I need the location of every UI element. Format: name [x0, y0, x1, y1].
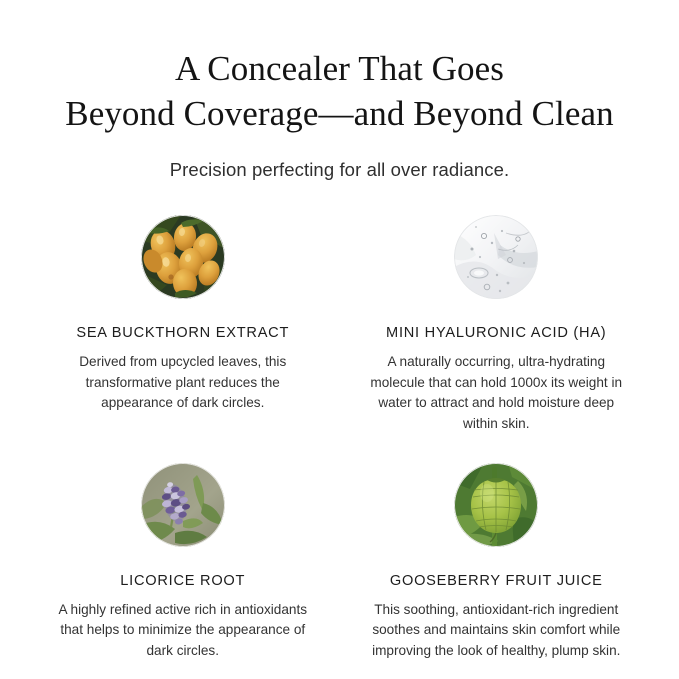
ingredient-card: GOOSEBERRY FRUIT JUICE This soothing, an…: [346, 463, 648, 662]
page-title: A Concealer That Goes Beyond Coverage—an…: [0, 47, 679, 135]
ingredient-title: GOOSEBERRY FRUIT JUICE: [390, 573, 603, 589]
ingredient-description: This soothing, antioxidant-rich ingredie…: [362, 600, 630, 662]
ingredient-title: SEA BUCKTHORN EXTRACT: [76, 325, 289, 341]
headline-line-1: A Concealer That Goes: [0, 47, 679, 91]
ingredient-grid: SEA BUCKTHORN EXTRACT Derived from upcyc…: [0, 215, 679, 662]
headline-line-2: Beyond Coverage—and Beyond Clean: [0, 92, 679, 136]
ingredient-card: SEA BUCKTHORN EXTRACT Derived from upcyc…: [32, 215, 334, 435]
sea-buckthorn-berries-photo: [141, 215, 225, 299]
ingredient-title: LICORICE ROOT: [120, 573, 245, 589]
ingredient-description: A naturally occurring, ultra-hydrating m…: [362, 352, 630, 435]
ingredient-benefits-page: A Concealer That Goes Beyond Coverage—an…: [0, 0, 679, 679]
gooseberry-fruit-photo: [454, 463, 538, 547]
hyaluronic-acid-gel-photo: [454, 215, 538, 299]
ingredient-description: A highly refined active rich in antioxid…: [49, 600, 317, 662]
ingredient-card: MINI HYALURONIC ACID (HA) A naturally oc…: [346, 215, 648, 435]
ingredient-card: LICORICE ROOT A highly refined active ri…: [32, 463, 334, 662]
page-subtitle: Precision perfecting for all over radian…: [0, 159, 679, 181]
page-header: A Concealer That Goes Beyond Coverage—an…: [0, 0, 679, 181]
ingredient-title: MINI HYALURONIC ACID (HA): [386, 325, 606, 341]
ingredient-description: Derived from upcycled leaves, this trans…: [49, 352, 317, 414]
licorice-root-flower-photo: [141, 463, 225, 547]
